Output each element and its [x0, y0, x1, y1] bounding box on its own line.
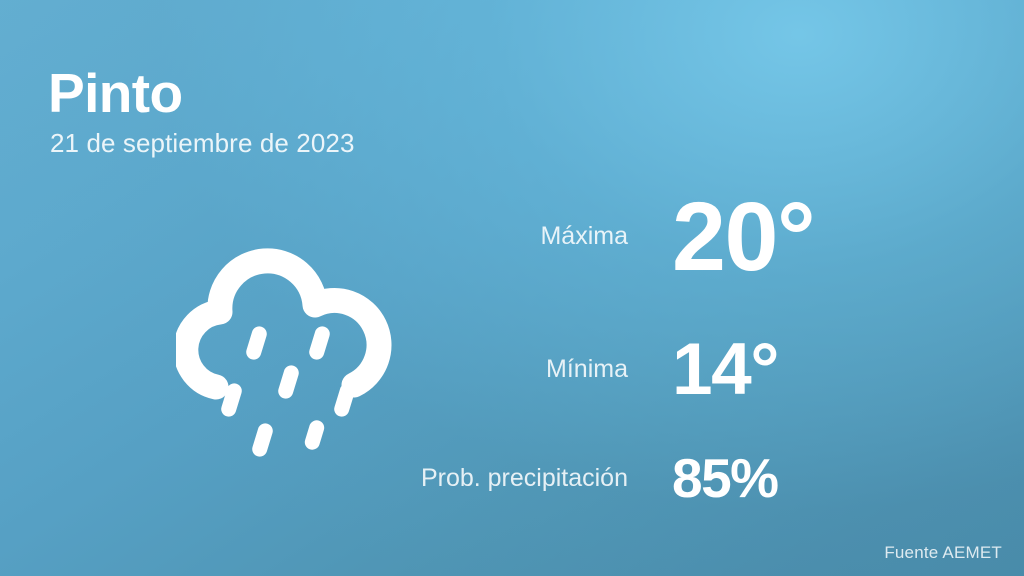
reading-label-maxima: Máxima [420, 222, 672, 251]
reading-row-precipitacion: Prob. precipitación 85% [420, 436, 940, 520]
page-title: Pinto [48, 64, 355, 122]
reading-label-precipitacion: Prob. precipitación [420, 464, 672, 493]
reading-row-minima: Mínima 14° [420, 302, 940, 436]
rain-cloud-icon [176, 248, 396, 478]
rain-drop [307, 325, 331, 362]
rain-drop [276, 364, 300, 401]
reading-label-minima: Mínima [420, 355, 672, 384]
reading-value-minima: 14° [672, 333, 940, 406]
rain-drop [332, 382, 356, 419]
reading-row-maxima: Máxima 20° [420, 170, 940, 302]
rain-drops [219, 325, 356, 459]
reading-value-precipitacion: 85% [672, 451, 940, 506]
cloud-outline [186, 261, 379, 387]
weather-card: Pinto 21 de septiembre de 2023 Máxima 20… [0, 0, 1024, 576]
reading-value-maxima: 20° [672, 188, 940, 285]
rain-cloud-glyph [176, 248, 396, 478]
source-attribution: Fuente AEMET [884, 543, 1002, 563]
header: Pinto 21 de septiembre de 2023 [48, 64, 355, 159]
readings-list: Máxima 20° Mínima 14° Prob. precipitació… [420, 170, 940, 520]
rain-drop [244, 325, 268, 362]
rain-drop [303, 418, 326, 451]
rain-drop [250, 422, 274, 459]
date-label: 21 de septiembre de 2023 [50, 128, 355, 159]
